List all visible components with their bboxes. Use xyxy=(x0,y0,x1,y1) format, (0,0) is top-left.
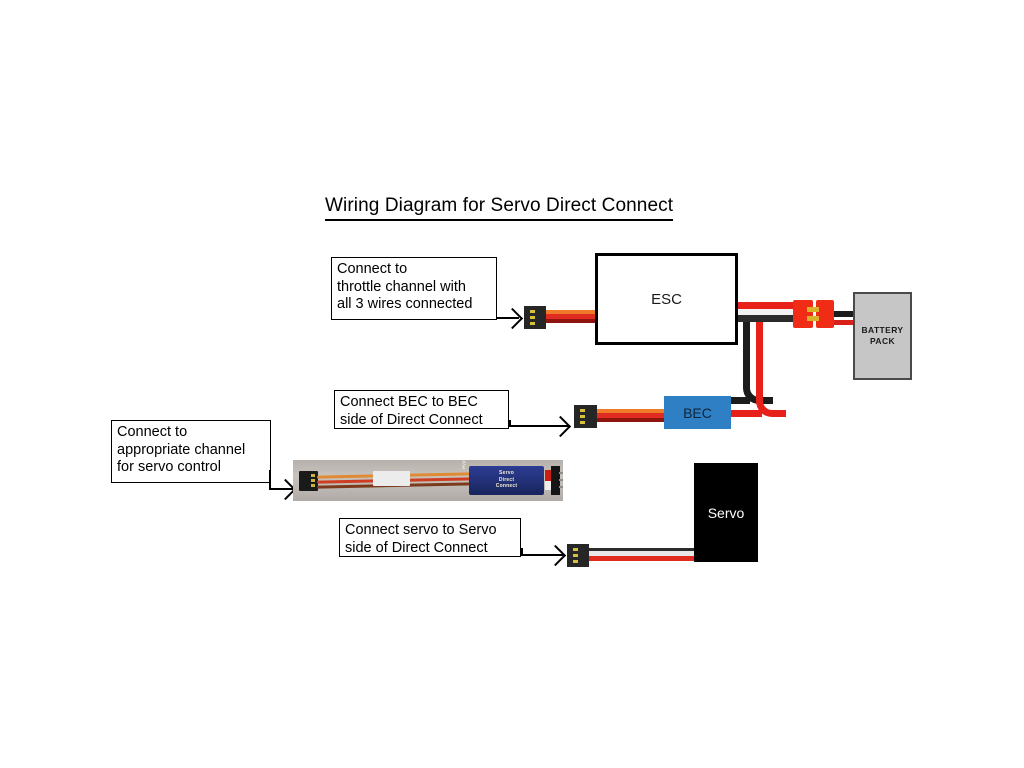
plug-pin xyxy=(580,415,585,418)
photo-module-line3: Connect xyxy=(469,483,544,490)
wire-esc-signal-dark xyxy=(546,319,598,323)
page-title: Wiring Diagram for Servo Direct Connect xyxy=(325,195,673,221)
photo-servo-direct-connect: Hyperion Servo Direct Connect xyxy=(293,460,563,501)
photo-module-body: Servo Direct Connect xyxy=(469,466,544,495)
plug-pin xyxy=(573,554,578,557)
bec-label: BEC xyxy=(683,405,712,421)
plug-pin xyxy=(573,560,578,563)
battery-label-line2: PACK xyxy=(870,336,895,347)
plug-pin xyxy=(580,409,585,412)
plug-pin xyxy=(530,316,535,319)
callout-bec-connection: Connect BEC to BEC side of Direct Connec… xyxy=(334,390,509,429)
photo-brand-text: Hyperion xyxy=(461,460,466,469)
component-servo: Servo xyxy=(694,463,758,562)
photo-header-pin xyxy=(559,479,563,481)
photo-header-pin xyxy=(559,486,563,488)
plug-pin xyxy=(530,310,535,313)
component-bec: BEC xyxy=(664,396,731,429)
deans-connector-female xyxy=(816,300,834,328)
plug-pin xyxy=(573,548,578,551)
component-esc: ESC xyxy=(595,253,738,345)
wire-servo-red xyxy=(589,556,699,561)
deans-pin-negative xyxy=(807,316,819,321)
wire-bec-power-black-tail xyxy=(731,397,750,404)
photo-heatshrink-sleeve xyxy=(373,471,410,486)
plug-pin xyxy=(530,322,535,325)
deans-pin-positive xyxy=(807,307,819,312)
photo-servo-plug-icon xyxy=(299,471,318,491)
wire-battery-black xyxy=(831,311,855,317)
photo-header-pin xyxy=(559,472,563,474)
wire-bec-signal-dark xyxy=(597,418,667,422)
wire-battery-red xyxy=(831,320,855,325)
arrow-bec-head xyxy=(550,416,571,437)
servo-plug-esc xyxy=(524,306,546,329)
servo-label: Servo xyxy=(708,505,745,521)
plug-pin xyxy=(580,421,585,424)
servo-plug-bec xyxy=(574,405,597,428)
diagram-canvas: Wiring Diagram for Servo Direct Connect … xyxy=(0,0,1024,768)
callout-servo-control-connection: Connect to appropriate channel for servo… xyxy=(111,420,271,483)
battery-label-line1: BATTERY xyxy=(862,325,904,336)
callout-servo-connection: Connect servo to Servo side of Direct Co… xyxy=(339,518,521,557)
wire-bec-power-red-tail xyxy=(731,410,762,417)
esc-label: ESC xyxy=(651,291,682,308)
component-battery-pack: BATTERY PACK xyxy=(853,292,912,380)
arrow-servo-control-stem xyxy=(269,470,271,490)
arrow-servo-head xyxy=(545,545,566,566)
arrow-throttle-head xyxy=(502,308,523,329)
deans-connector-male xyxy=(793,300,813,328)
callout-throttle-connection: Connect to throttle channel with all 3 w… xyxy=(331,257,497,320)
servo-plug-servo xyxy=(567,544,589,567)
